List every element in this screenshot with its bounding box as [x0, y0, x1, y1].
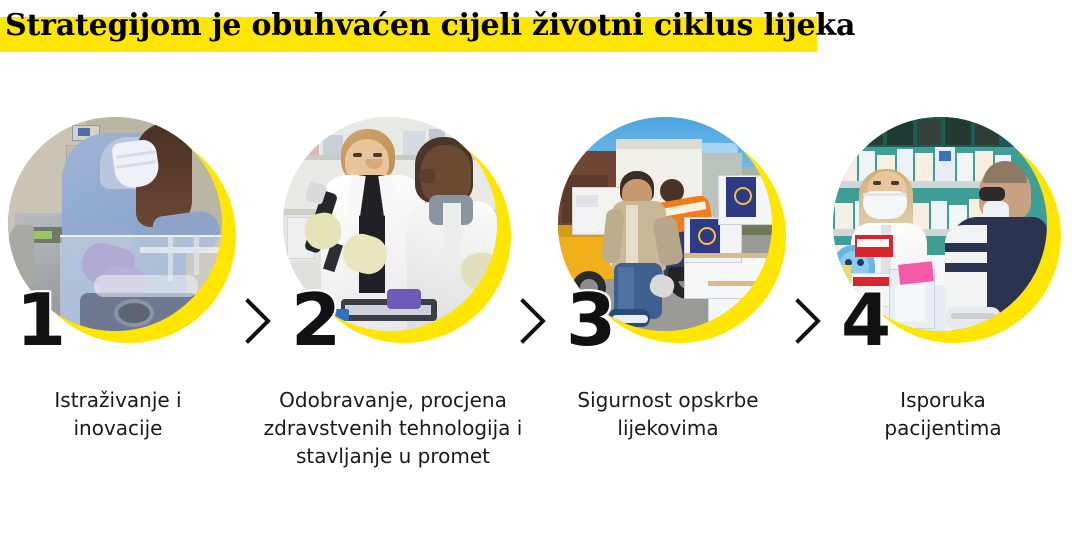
step-4[interactable]: 4	[825, 112, 1061, 348]
step-2-caption-line-3: stavljanje u promet	[257, 442, 529, 470]
step-3[interactable]: 3	[550, 112, 786, 348]
step-1[interactable]: 1	[0, 112, 236, 348]
step-1-caption-line-1: Istraživanje i	[0, 386, 236, 414]
step-3-caption-line-1: Sigurnost opskrbe	[550, 386, 786, 414]
chevron-right-icon-1	[238, 295, 278, 347]
step-4-caption-line-1: Isporuka	[825, 386, 1061, 414]
step-4-caption: Isporuka pacijentima	[825, 386, 1061, 442]
title-area: Strategijom je obuhvaćen cijeli životni …	[0, 0, 1072, 70]
step-4-caption-line-2: pacijentima	[825, 414, 1061, 442]
step-3-caption-line-2: lijekovima	[550, 414, 786, 442]
step-2-caption-line-1: Odobravanje, procjena	[257, 386, 529, 414]
step-2-caption: Odobravanje, procjena zdravstvenih tehno…	[257, 386, 529, 470]
step-2-caption-line-2: zdravstvenih tehnologija i	[257, 414, 529, 442]
step-1-number: 1	[16, 284, 66, 356]
page-title: Strategijom je obuhvaćen cijeli životni …	[5, 8, 855, 44]
chevron-right-icon-3	[788, 295, 828, 347]
step-3-caption: Sigurnost opskrbe lijekovima	[550, 386, 786, 442]
step-2[interactable]: 2	[275, 112, 511, 348]
step-4-number: 4	[841, 284, 891, 356]
step-1-caption: Istraživanje i inovacije	[0, 386, 236, 442]
chevron-right-icon-2	[513, 295, 553, 347]
step-2-number: 2	[291, 284, 341, 356]
step-1-caption-line-2: inovacije	[0, 414, 236, 442]
lifecycle-steps: 1	[0, 112, 1072, 352]
step-3-number: 3	[566, 284, 616, 356]
